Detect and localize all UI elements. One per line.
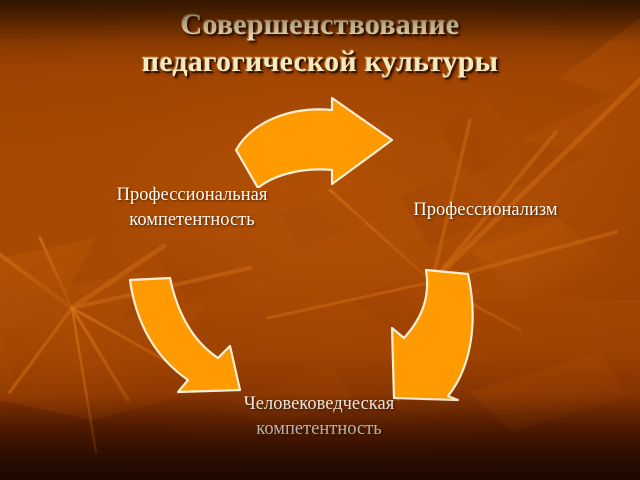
label-human-studies-competence: Человековедческая компетентность: [186, 392, 452, 442]
slide-canvas: Совершенствование педагогической культур…: [0, 0, 640, 480]
curved-arrow-down-left-icon: [386, 262, 486, 402]
label-professional-competence: Профессиональная компетентность: [67, 183, 317, 233]
page-title: Совершенствование педагогической культур…: [0, 6, 640, 80]
curved-arrow-right-icon: [228, 96, 398, 188]
curved-arrow-up-left-icon: [126, 276, 274, 398]
label-professionalism: Профессионализм: [368, 198, 603, 223]
